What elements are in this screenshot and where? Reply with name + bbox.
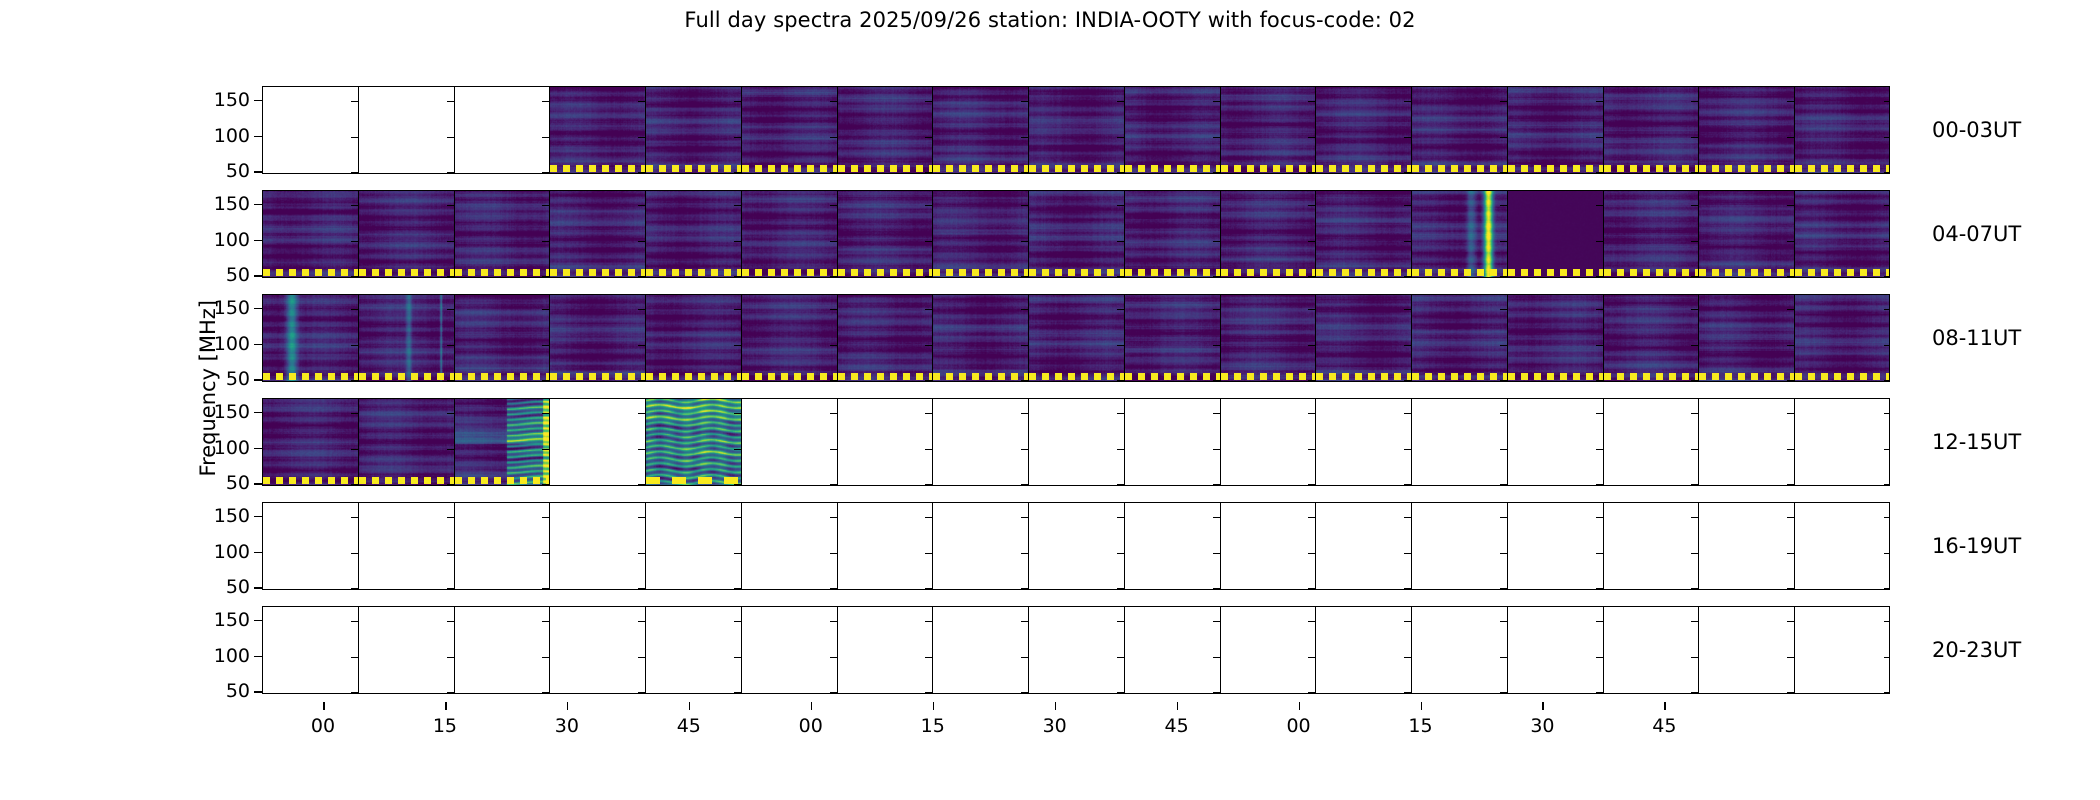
spectrogram-figure: Full day spectra 2025/09/26 station: IND… (0, 0, 2100, 800)
tick-mark (542, 276, 549, 277)
y-tick-label: 50 (226, 680, 250, 702)
spectrogram-tile (455, 191, 550, 277)
y-tick-mark (254, 656, 262, 658)
tick-mark (638, 588, 645, 589)
spectrogram-segment (1316, 87, 1412, 173)
x-tick-label: 00 (799, 715, 823, 737)
tick-mark (1213, 101, 1220, 103)
tick-mark (542, 484, 549, 485)
spectrogram-tile (1604, 87, 1699, 173)
spectrogram-tile (1795, 87, 1890, 173)
spectrogram-segment (1699, 191, 1795, 277)
x-tick-mark (689, 702, 691, 710)
tick-mark (1117, 205, 1124, 207)
y-tick-mark (254, 552, 262, 554)
y-tick-mark (254, 379, 262, 381)
tick-mark (1691, 101, 1698, 103)
tick-mark (447, 380, 454, 381)
spectrogram-tile (359, 399, 454, 485)
x-tick-mark (1055, 702, 1057, 710)
spectrogram-tile (1316, 87, 1411, 173)
y-tick-mark (254, 516, 262, 518)
tick-mark (1404, 449, 1411, 451)
spectrogram-tile (1221, 87, 1316, 173)
tick-mark (351, 657, 358, 659)
tick-mark (734, 101, 741, 103)
spectrogram-segment (455, 87, 551, 173)
tick-mark (1213, 692, 1220, 693)
tick-mark (1787, 449, 1794, 451)
tick-mark (1308, 553, 1315, 555)
tick-mark (542, 553, 549, 555)
spectrogram-segment (933, 191, 1029, 277)
tick-mark (1691, 276, 1698, 277)
spectrogram-tile (838, 87, 933, 173)
spectrogram-segment (1221, 503, 1317, 589)
tick-mark (1404, 413, 1411, 415)
spectrogram-tile (550, 191, 645, 277)
tick-mark (734, 413, 741, 415)
spectrogram-tile (742, 191, 837, 277)
y-tick-mark (254, 136, 262, 138)
tick-mark (1596, 517, 1603, 519)
tick-mark (1691, 205, 1698, 207)
spectrogram-row-08-11ut: 1501005008-11UT (262, 294, 1890, 382)
tick-mark (542, 588, 549, 589)
tick-mark (351, 205, 358, 207)
x-tick-mark (567, 702, 569, 710)
y-tick-mark (254, 483, 262, 485)
spectrogram-segment (1316, 295, 1412, 381)
tick-mark (830, 101, 837, 103)
spectrogram-segment (359, 87, 455, 173)
spectrogram-segment (838, 399, 934, 485)
x-tick-mark (811, 702, 813, 710)
y-tick-mark (254, 240, 262, 242)
spectrogram-segment (1699, 87, 1795, 173)
tick-mark (1404, 380, 1411, 381)
tick-mark (1117, 380, 1124, 381)
spectrogram-segment (1029, 399, 1125, 485)
spectrogram-segment (1316, 607, 1412, 693)
tick-mark (1787, 588, 1794, 589)
spectrogram-row-04-07ut: 1501005004-07UT (262, 190, 1890, 278)
tick-mark (1884, 380, 1890, 381)
spectrogram-segment (1412, 87, 1508, 173)
tick-mark (1021, 241, 1028, 243)
spectrogram-row-00-03ut: 1501005000-03UT (262, 86, 1890, 174)
tick-mark (1500, 484, 1507, 485)
tick-mark (1500, 621, 1507, 623)
spectrogram-segment (1029, 607, 1125, 693)
tick-mark (925, 380, 932, 381)
tick-mark (1117, 517, 1124, 519)
tick-mark (1308, 413, 1315, 415)
spectrogram-segment (646, 399, 742, 485)
tick-mark (830, 345, 837, 347)
tick-mark (1308, 137, 1315, 139)
spectrogram-tile (550, 87, 645, 173)
tick-mark (542, 413, 549, 415)
tick-mark (1308, 172, 1315, 173)
x-tick-mark (1299, 702, 1301, 710)
x-tick-mark (1421, 702, 1423, 710)
tick-mark (638, 309, 645, 311)
spectrogram-segment (1699, 295, 1795, 381)
tick-mark (830, 380, 837, 381)
tick-mark (1213, 309, 1220, 311)
tick-mark (1596, 380, 1603, 381)
spectrogram-segment (550, 399, 646, 485)
tick-mark (1596, 588, 1603, 589)
tick-mark (1021, 276, 1028, 277)
tick-mark (1787, 241, 1794, 243)
tick-mark (925, 205, 932, 207)
tick-mark (1596, 449, 1603, 451)
spectrogram-tile (263, 399, 358, 485)
tick-mark (638, 380, 645, 381)
spectrogram-segment (1412, 399, 1508, 485)
tick-mark (1884, 413, 1890, 415)
tick-mark (1308, 657, 1315, 659)
spectrogram-tile (1125, 295, 1220, 381)
spectrogram-segment (550, 87, 646, 173)
tick-mark (1596, 172, 1603, 173)
tick-mark (1308, 449, 1315, 451)
tick-mark (542, 241, 549, 243)
spectrogram-segment (263, 607, 359, 693)
tick-mark (734, 517, 741, 519)
y-tick-mark (254, 448, 262, 450)
tick-mark (1691, 621, 1698, 623)
tick-mark (1117, 137, 1124, 139)
tick-mark (1500, 345, 1507, 347)
tick-mark (1787, 205, 1794, 207)
tick-mark (1500, 517, 1507, 519)
tick-mark (351, 172, 358, 173)
tick-mark (1021, 517, 1028, 519)
tick-mark (1021, 588, 1028, 589)
spectrogram-segment (838, 295, 934, 381)
spectrogram-segment (933, 607, 1029, 693)
tick-mark (1404, 205, 1411, 207)
tick-mark (1308, 517, 1315, 519)
tick-mark (1691, 484, 1698, 485)
tick-mark (1500, 692, 1507, 693)
spectrogram-segment (933, 399, 1029, 485)
tick-mark (1787, 309, 1794, 311)
spectrogram-segment (1412, 191, 1508, 277)
tick-mark (351, 621, 358, 623)
y-tick-mark (254, 275, 262, 277)
spectrogram-segment (1221, 607, 1317, 693)
y-tick-label: 50 (226, 472, 250, 494)
tick-mark (1787, 692, 1794, 693)
tick-mark (1117, 345, 1124, 347)
y-tick-label: 150 (214, 297, 250, 319)
tick-mark (1213, 621, 1220, 623)
spectrogram-segment (1412, 607, 1508, 693)
y-tick-mark (254, 344, 262, 346)
tick-mark (1596, 413, 1603, 415)
tick-mark (1021, 692, 1028, 693)
tick-mark (830, 553, 837, 555)
tick-mark (1500, 137, 1507, 139)
tick-mark (1021, 553, 1028, 555)
tick-mark (1691, 657, 1698, 659)
tick-mark (1884, 205, 1890, 207)
plot-area (262, 190, 1890, 278)
y-tick-mark (254, 171, 262, 173)
tick-mark (830, 449, 837, 451)
spectrogram-segment (1029, 295, 1125, 381)
tick-mark (1117, 276, 1124, 277)
tick-mark (1117, 309, 1124, 311)
tick-mark (1117, 484, 1124, 485)
x-tick-mark (1664, 702, 1666, 710)
tick-mark (925, 657, 932, 659)
row-label-08-11ut: 08-11UT (1932, 326, 2021, 350)
spectrogram-tile (1029, 295, 1124, 381)
tick-mark (1596, 692, 1603, 693)
tick-mark (1596, 241, 1603, 243)
y-tick-label: 150 (214, 609, 250, 631)
y-tick-mark (254, 412, 262, 414)
spectrogram-tile (1125, 191, 1220, 277)
tick-mark (638, 101, 645, 103)
tick-mark (447, 621, 454, 623)
tick-mark (1117, 241, 1124, 243)
tick-mark (734, 309, 741, 311)
spectrogram-tile (838, 191, 933, 277)
y-tick-label: 100 (214, 125, 250, 147)
y-tick-label: 150 (214, 401, 250, 423)
spectrogram-segment (838, 191, 934, 277)
x-tick-label: 15 (1408, 715, 1432, 737)
spectrogram-segment (1604, 295, 1700, 381)
y-tick-label: 100 (214, 437, 250, 459)
tick-mark (925, 588, 932, 589)
tick-mark (1021, 309, 1028, 311)
tick-mark (1884, 657, 1890, 659)
spectrogram-segment (1316, 399, 1412, 485)
tick-mark (542, 137, 549, 139)
tick-mark (447, 484, 454, 485)
tick-mark (638, 517, 645, 519)
x-tick-label: 15 (921, 715, 945, 737)
tick-mark (638, 137, 645, 139)
spectrogram-segment (1604, 191, 1700, 277)
tick-mark (734, 241, 741, 243)
tick-mark (1787, 553, 1794, 555)
tick-mark (351, 413, 358, 415)
tick-mark (447, 205, 454, 207)
x-tick-label: 45 (677, 715, 701, 737)
tick-mark (1021, 449, 1028, 451)
tick-mark (1596, 657, 1603, 659)
spectrogram-segment (1316, 191, 1412, 277)
tick-mark (1884, 345, 1890, 347)
spectrogram-row-16-19ut: 1501005016-19UT (262, 502, 1890, 590)
tick-mark (925, 517, 932, 519)
tick-mark (1404, 276, 1411, 277)
y-tick-label: 150 (214, 505, 250, 527)
spectrogram-segment (1699, 503, 1795, 589)
tick-mark (447, 101, 454, 103)
x-tick-mark (933, 702, 935, 710)
tick-mark (542, 692, 549, 693)
plot-area (262, 294, 1890, 382)
y-tick-mark (254, 308, 262, 310)
spectrogram-segment (838, 87, 934, 173)
tick-mark (734, 345, 741, 347)
x-tick-label: 00 (311, 715, 335, 737)
tick-mark (351, 484, 358, 485)
spectrogram-tile (646, 295, 741, 381)
tick-mark (1117, 553, 1124, 555)
tick-mark (1884, 553, 1890, 555)
tick-mark (351, 449, 358, 451)
tick-mark (734, 380, 741, 381)
plot-area (262, 502, 1890, 590)
tick-mark (447, 657, 454, 659)
tick-mark (447, 309, 454, 311)
tick-mark (1691, 517, 1698, 519)
tick-mark (1500, 380, 1507, 381)
tick-mark (638, 657, 645, 659)
tick-mark (1021, 621, 1028, 623)
spectrogram-segment (455, 503, 551, 589)
tick-mark (638, 172, 645, 173)
spectrogram-tile (1508, 295, 1603, 381)
tick-mark (1596, 345, 1603, 347)
tick-mark (1308, 101, 1315, 103)
tick-mark (734, 588, 741, 589)
tick-mark (447, 241, 454, 243)
row-label-04-07ut: 04-07UT (1932, 222, 2021, 246)
spectrogram-segment (1125, 191, 1221, 277)
tick-mark (830, 621, 837, 623)
tick-mark (1787, 380, 1794, 381)
plot-area (262, 86, 1890, 174)
spectrogram-tile (1221, 295, 1316, 381)
spectrogram-segment (1508, 295, 1604, 381)
tick-mark (1596, 101, 1603, 103)
spectrogram-segment (1221, 87, 1317, 173)
tick-mark (638, 345, 645, 347)
spectrogram-segment (1412, 295, 1508, 381)
tick-mark (1213, 517, 1220, 519)
tick-mark (1213, 657, 1220, 659)
tick-mark (542, 517, 549, 519)
tick-mark (447, 137, 454, 139)
tick-mark (1021, 657, 1028, 659)
spectrogram-segment (550, 607, 646, 693)
tick-mark (1787, 621, 1794, 623)
plot-area (262, 606, 1890, 694)
tick-mark (1213, 137, 1220, 139)
tick-mark (1596, 137, 1603, 139)
spectrogram-tile (1412, 295, 1507, 381)
tick-mark (1213, 553, 1220, 555)
tick-mark (1021, 413, 1028, 415)
spectrogram-row-20-23ut: 1501005020-23UT (262, 606, 1890, 694)
spectrogram-tile (263, 191, 358, 277)
spectrogram-segment (1795, 87, 1890, 173)
spectrogram-tile (838, 295, 933, 381)
spectrogram-segment (1221, 191, 1317, 277)
spectrogram-segment (263, 191, 359, 277)
tick-mark (1500, 309, 1507, 311)
spectrogram-segment (1795, 295, 1890, 381)
tick-mark (734, 137, 741, 139)
spectrogram-segment (1508, 87, 1604, 173)
tick-mark (1117, 692, 1124, 693)
tick-mark (734, 276, 741, 277)
tick-mark (638, 413, 645, 415)
y-tick-mark (254, 691, 262, 693)
tick-mark (1500, 553, 1507, 555)
spectrogram-segment (1795, 607, 1890, 693)
tick-mark (351, 588, 358, 589)
tick-mark (1691, 588, 1698, 589)
spectrogram-tile (1604, 295, 1699, 381)
spectrogram-tile (933, 87, 1028, 173)
tick-mark (1308, 484, 1315, 485)
tick-mark (1691, 345, 1698, 347)
tick-mark (734, 205, 741, 207)
x-tick-label: 00 (1286, 715, 1310, 737)
tick-mark (1213, 484, 1220, 485)
tick-mark (351, 553, 358, 555)
tick-mark (1596, 205, 1603, 207)
tick-mark (1213, 172, 1220, 173)
tick-mark (1691, 380, 1698, 381)
tick-mark (925, 241, 932, 243)
y-tick-label: 150 (214, 193, 250, 215)
spectrogram-segment (646, 87, 742, 173)
spectrogram-segment (742, 191, 838, 277)
tick-mark (638, 276, 645, 277)
tick-mark (1884, 449, 1890, 451)
tick-mark (1117, 657, 1124, 659)
tick-mark (830, 205, 837, 207)
spectrogram-segment (1125, 503, 1221, 589)
spectrogram-segment (359, 191, 455, 277)
spectrogram-tile (1412, 87, 1507, 173)
spectrogram-segment (1221, 399, 1317, 485)
tick-mark (1500, 276, 1507, 277)
spectrogram-segment (1508, 399, 1604, 485)
tick-mark (1213, 380, 1220, 381)
spectrogram-segment (1029, 87, 1125, 173)
spectrogram-segment (1125, 399, 1221, 485)
y-tick-mark (254, 620, 262, 622)
spectrogram-tile (1795, 295, 1890, 381)
tick-mark (1213, 345, 1220, 347)
tick-mark (1404, 241, 1411, 243)
tick-mark (542, 205, 549, 207)
tick-mark (925, 692, 932, 693)
tick-mark (1308, 276, 1315, 277)
tick-mark (1884, 621, 1890, 623)
tick-mark (1021, 484, 1028, 485)
tick-mark (1404, 345, 1411, 347)
row-label-00-03ut: 00-03UT (1932, 118, 2021, 142)
tick-mark (1787, 657, 1794, 659)
tick-mark (925, 309, 932, 311)
tick-mark (1308, 309, 1315, 311)
